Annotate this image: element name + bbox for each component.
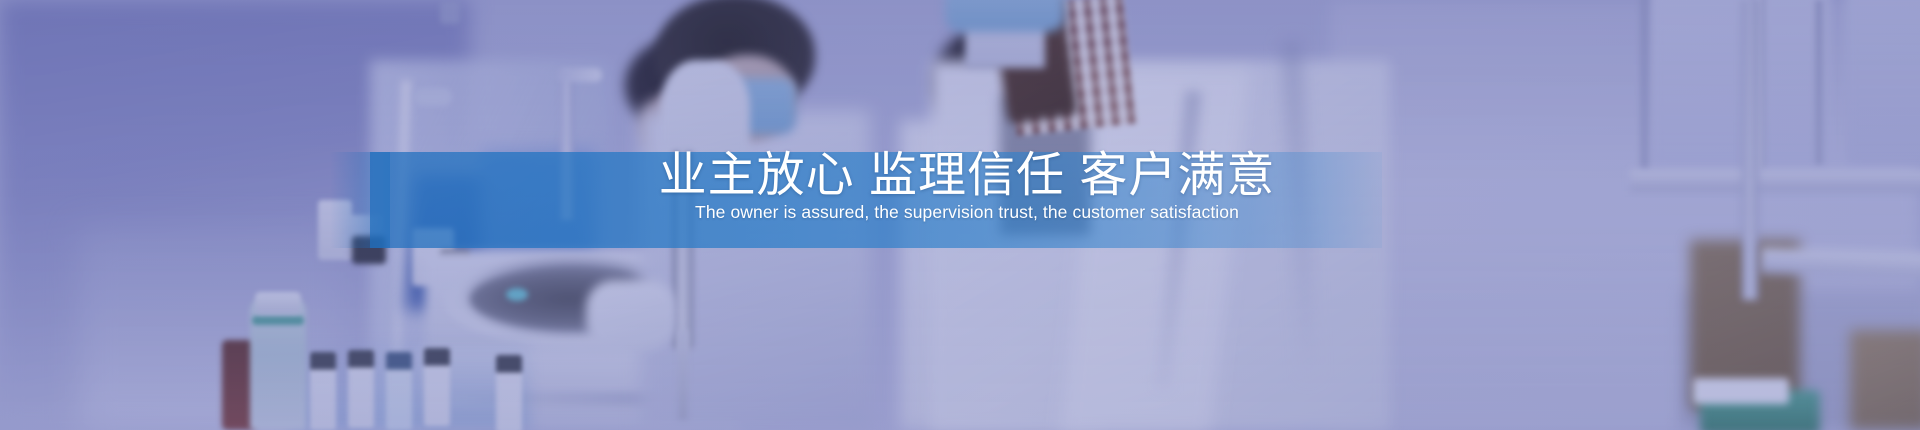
hero-banner: 业主放心 监理信任 客户满意 The owner is assured, the… (0, 0, 1920, 430)
slogan-text-group: 业主放心 监理信任 客户满意 The owner is assured, the… (0, 0, 1920, 430)
slogan-headline: 业主放心 监理信任 客户满意 (0, 148, 1920, 204)
slogan-subheadline: The owner is assured, the supervision tr… (0, 199, 1920, 225)
